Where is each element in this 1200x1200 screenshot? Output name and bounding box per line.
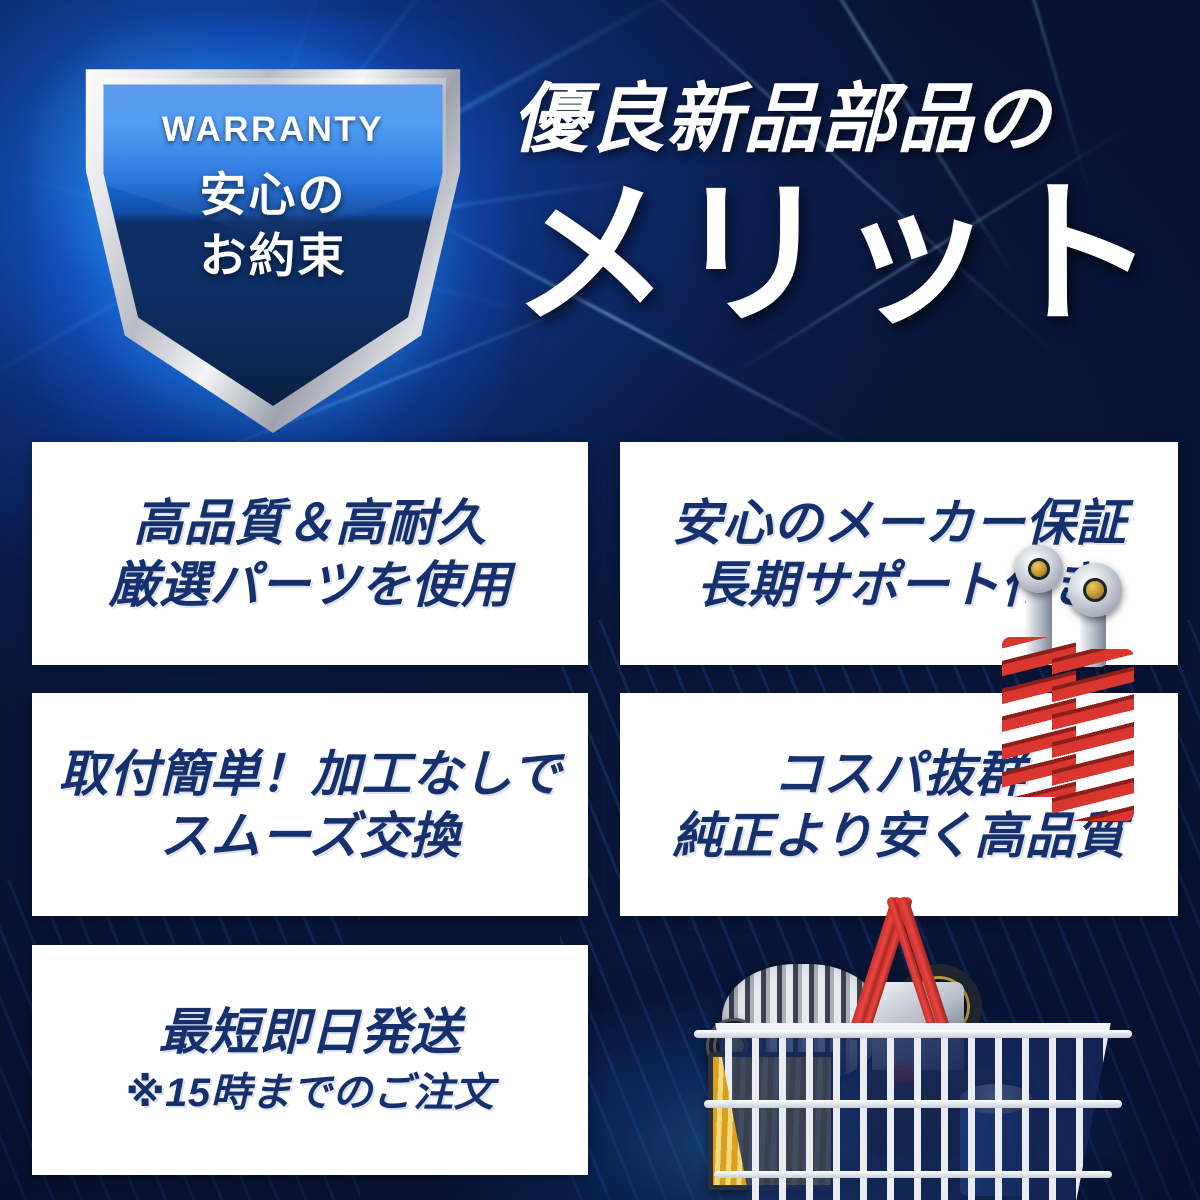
- basket-rail: [714, 1171, 1112, 1178]
- card-line-2: ※15時までのご注文: [126, 1069, 494, 1119]
- card-line-1: 取付簡単！加工なしで: [58, 743, 562, 805]
- card-line-2: スムーズ交換: [160, 805, 461, 867]
- promotional-banner: WARRANTY 安心の お約束 優良新品部品の メリット 高品質＆高耐久 厳選…: [0, 0, 1200, 1200]
- card-line-1: 高品質＆高耐久: [133, 492, 487, 554]
- shock-eyelet: [1015, 545, 1063, 593]
- card-line-1: 安心のメーカー保証: [672, 492, 1127, 554]
- headline-block: 優良新品部品の メリット: [512, 80, 1192, 334]
- basket-rail: [704, 1100, 1122, 1108]
- basket-rim: [694, 1030, 1132, 1038]
- warranty-label: WARRANTY: [78, 110, 468, 150]
- benefit-card-quality: 高品質＆高耐久 厳選パーツを使用: [32, 442, 588, 665]
- card-line-1: コスパ抜群: [773, 743, 1026, 805]
- coil-spring: [1052, 649, 1134, 821]
- headline-title: メリット: [512, 176, 1192, 334]
- shield-text-block: WARRANTY 安心の お約束: [78, 110, 468, 286]
- product-image-basket: [660, 855, 1180, 1200]
- card-line-1: 最短即日発送: [159, 1001, 462, 1063]
- badge-line-1: 安心の: [78, 164, 468, 225]
- badge-line-2: お約束: [78, 225, 468, 286]
- badge-japanese-text: 安心の お約束: [78, 164, 468, 286]
- benefit-card-installation: 取付簡単！加工なしで スムーズ交換: [32, 693, 588, 916]
- shock-eyelet: [1068, 563, 1122, 617]
- headline-subtitle: 優良新品部品の: [512, 80, 1192, 160]
- card-line-2: 厳選パーツを使用: [109, 554, 512, 616]
- benefit-card-shipping: 最短即日発送 ※15時までのご注文: [32, 945, 588, 1175]
- warranty-shield-badge: WARRANTY 安心の お約束: [78, 58, 468, 433]
